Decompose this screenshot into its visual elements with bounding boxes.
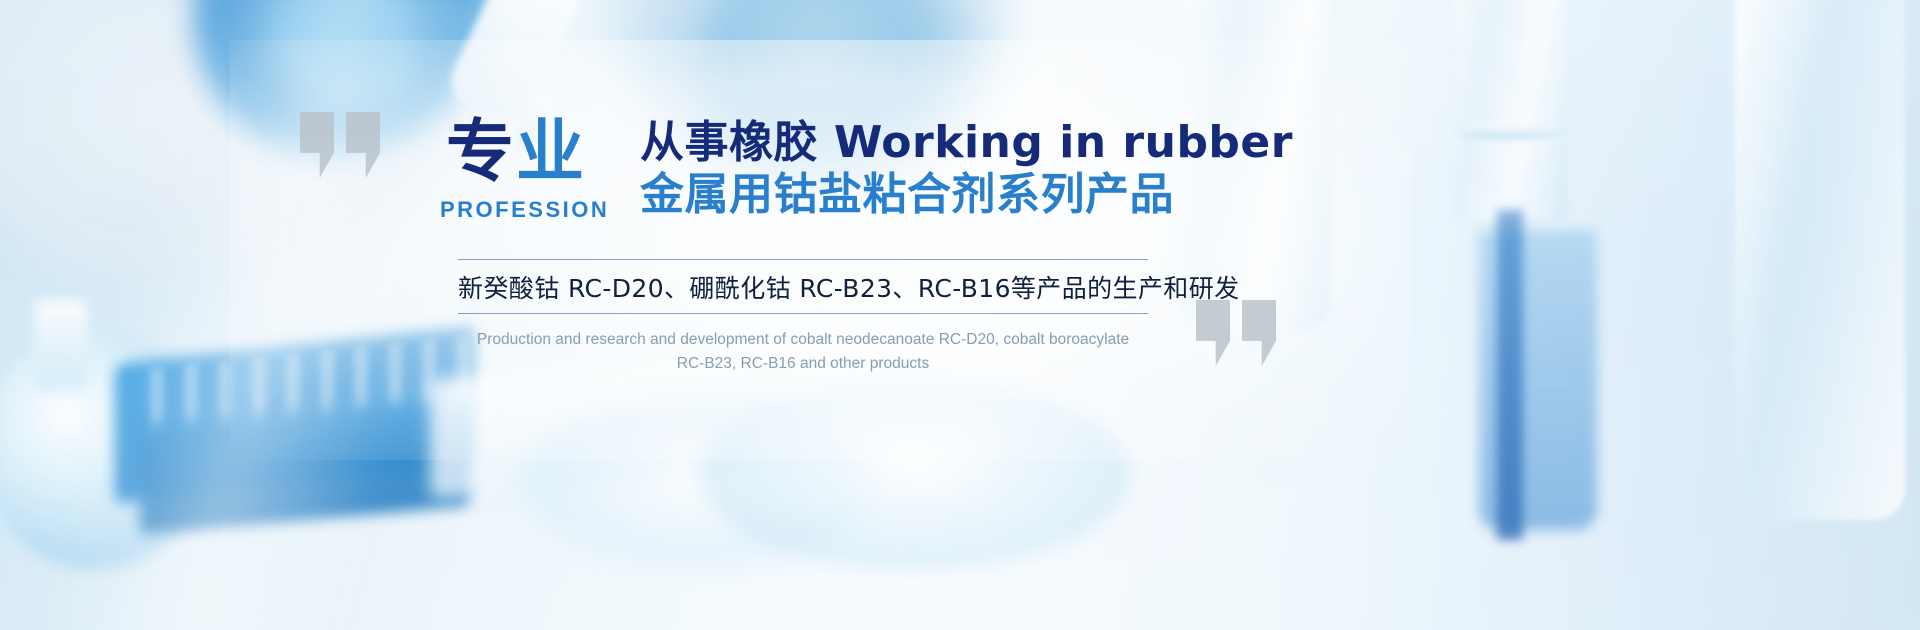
subtitle-chinese: 新癸酸钴 RC-D20、硼酰化钴 RC-B23、RC-B16等产品的生产和研发 xyxy=(458,260,1148,313)
hero-banner: 专业 PROFESSION 从事橡胶 Working in rubber 金属用… xyxy=(0,0,1920,630)
close-quote-glyph-2 xyxy=(1242,300,1276,366)
profession-logo: 专业 PROFESSION xyxy=(440,115,592,223)
headline-line-1: 从事橡胶 Working in rubber xyxy=(640,117,1293,169)
subtitle-rule-top xyxy=(458,259,1148,260)
logo-char-zhuan: 专 xyxy=(446,113,516,192)
subtitle-english-line-1: Production and research and development … xyxy=(458,328,1148,352)
subtitle-english-block: Production and research and development … xyxy=(458,328,1148,376)
logo-char-ye: 业 xyxy=(516,113,586,192)
headline-row: 专业 PROFESSION 从事橡胶 Working in rubber 金属用… xyxy=(440,115,1200,239)
banner-content: 专业 PROFESSION 从事橡胶 Working in rubber 金属用… xyxy=(440,115,1200,376)
open-quote-icon xyxy=(300,112,392,181)
open-quote-glyph-2 xyxy=(346,112,380,178)
open-quote-glyph-1 xyxy=(300,112,334,178)
headline-line-2: 金属用钴盐粘合剂系列产品 xyxy=(640,169,1293,221)
close-quote-glyph-1 xyxy=(1196,300,1230,366)
subtitle-english-line-2: RC-B23, RC-B16 and other products xyxy=(458,352,1148,376)
close-quote-icon xyxy=(1196,300,1288,369)
logo-chinese-characters: 专业 xyxy=(440,119,592,187)
logo-english-label: PROFESSION xyxy=(440,197,592,223)
subtitle-chinese-block: 新癸酸钴 RC-D20、硼酰化钴 RC-B23、RC-B16等产品的生产和研发 xyxy=(458,259,1148,314)
headline-text-block: 从事橡胶 Working in rubber 金属用钴盐粘合剂系列产品 xyxy=(640,115,1293,221)
subtitle-rule-bottom xyxy=(458,313,1148,314)
